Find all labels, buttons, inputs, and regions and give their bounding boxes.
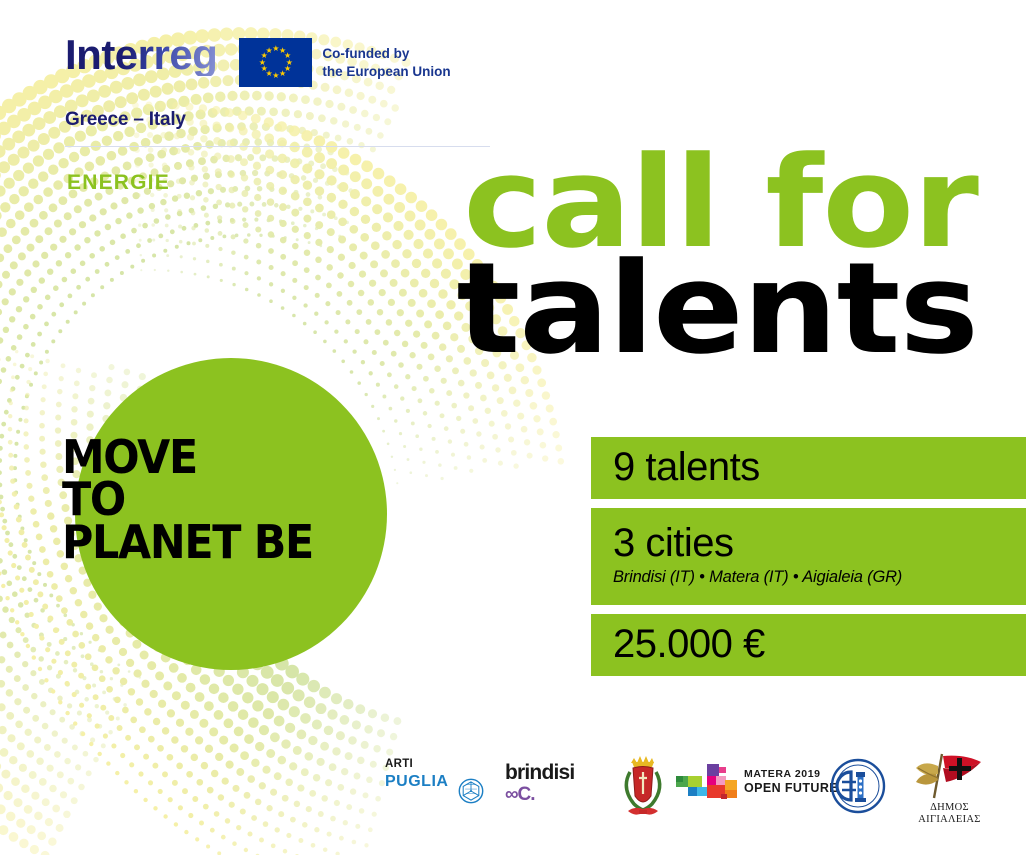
decorative-dot [190, 195, 195, 200]
decorative-dot [0, 202, 10, 212]
decorative-dot [114, 696, 121, 703]
decorative-dot [320, 742, 329, 751]
decorative-dot [11, 345, 17, 351]
decorative-dot [435, 310, 444, 319]
decorative-dot [30, 354, 34, 358]
decorative-dot [358, 290, 365, 297]
decorative-dot [120, 753, 125, 758]
decorative-dot [359, 808, 365, 814]
decorative-dot [115, 771, 119, 775]
decorative-dot [47, 512, 54, 519]
decorative-dot [393, 221, 403, 231]
decorative-dot [0, 507, 5, 512]
decorative-dot [56, 260, 62, 266]
decorative-dot [53, 285, 59, 291]
decorative-dot [321, 795, 328, 802]
decorative-dot [419, 289, 428, 298]
matera-text: MATERA 2019 OPEN FUTURE [744, 768, 838, 795]
decorative-dot [289, 173, 295, 179]
puglia-label: PUGLIA [385, 773, 448, 791]
decorative-dot [61, 607, 68, 614]
decorative-dot [191, 754, 198, 761]
decorative-dot [110, 278, 114, 282]
decorative-dot [2, 525, 7, 530]
decorative-dot [0, 122, 11, 136]
decorative-dot [0, 632, 7, 639]
matera-blocks-icon [676, 764, 740, 810]
decorative-dot [300, 713, 311, 724]
decorative-dot [482, 458, 487, 463]
decorative-dot [135, 163, 140, 168]
decorative-dot [59, 302, 64, 307]
decorative-dot [391, 351, 397, 357]
decorative-dot [225, 818, 230, 823]
decorative-dot [205, 745, 213, 753]
decorative-dot [390, 279, 398, 287]
decorative-dot [293, 689, 305, 701]
decorative-dot [269, 299, 273, 303]
decorative-dot [542, 391, 550, 399]
decorative-dot [85, 277, 90, 282]
decorative-dot [106, 377, 113, 384]
decorative-dot [485, 408, 491, 414]
decorative-dot [65, 711, 69, 715]
decorative-dot [153, 806, 157, 810]
decorative-dot [247, 831, 252, 836]
decorative-dot [91, 372, 97, 378]
decorative-dot [100, 705, 106, 711]
decorative-dot [338, 236, 346, 244]
decorative-dot [201, 205, 207, 211]
decorative-dot [155, 671, 164, 680]
info-cities-list: Brindisi (IT) • Matera (IT) • Aigialeia … [613, 565, 1026, 590]
decorative-dot [89, 641, 92, 644]
decorative-dot [71, 797, 78, 804]
decorative-dot [213, 137, 221, 145]
decorative-dot [152, 254, 156, 258]
decorative-dot [270, 732, 280, 742]
decorative-dot [56, 604, 60, 608]
decorative-dot [245, 288, 249, 292]
decorative-dot [138, 224, 141, 227]
decorative-dot [203, 197, 209, 203]
decorative-dot [179, 177, 186, 184]
decorative-dot [254, 194, 261, 201]
decorative-dot [79, 221, 86, 228]
decorative-dot [248, 717, 259, 728]
decorative-dot [165, 214, 171, 220]
decorative-dot [464, 442, 469, 447]
decorative-dot [0, 379, 2, 385]
decorative-dot [175, 245, 179, 249]
decorative-dot [308, 680, 320, 692]
decorative-dot [33, 117, 46, 130]
decorative-dot [157, 150, 166, 159]
decorative-dot [41, 474, 48, 481]
decorative-dot [236, 825, 241, 830]
decorative-dot [126, 212, 132, 218]
decorative-dot [19, 186, 29, 196]
decorative-dot [244, 848, 248, 852]
decorative-dot [215, 753, 223, 761]
decorative-dot [65, 252, 71, 258]
decorative-dot [381, 250, 390, 259]
decorative-dot [223, 675, 234, 686]
decorative-dot [44, 74, 58, 88]
decorative-dot [0, 227, 7, 237]
decorative-dot [391, 259, 400, 268]
decorative-dot [1, 367, 7, 373]
decorative-dot [443, 248, 454, 259]
project-tag-label: ENERGIE [67, 171, 170, 195]
decorative-dot [403, 445, 406, 448]
decorative-dot [377, 417, 380, 420]
decorative-dot [37, 591, 43, 597]
decorative-dot [497, 397, 504, 404]
decorative-dot [36, 757, 43, 764]
decorative-dot [315, 275, 321, 281]
decorative-dot [147, 238, 152, 243]
decorative-dot [116, 717, 120, 721]
decorative-dot [429, 388, 435, 394]
decorative-dot [177, 194, 182, 199]
decorative-dot [350, 788, 356, 794]
decorative-dot [492, 384, 499, 391]
decorative-dot [228, 701, 239, 712]
decorative-dot [542, 455, 548, 461]
decorative-dot [241, 190, 248, 197]
decorative-dot [39, 778, 47, 786]
decorative-dot [56, 595, 63, 602]
decorative-dot [394, 469, 396, 471]
decorative-dot [275, 827, 280, 832]
decorative-dot [20, 364, 25, 369]
decorative-dot [172, 691, 181, 700]
decorative-dot [394, 330, 401, 337]
decorative-dot [422, 461, 425, 464]
decorative-dot [178, 805, 183, 810]
decorative-dot [53, 180, 63, 190]
decorative-dot [41, 851, 50, 855]
decorative-dot [56, 402, 62, 408]
decorative-dot [254, 178, 262, 186]
decorative-dot [20, 527, 24, 531]
decorative-dot [124, 369, 131, 376]
decorative-dot [371, 241, 380, 250]
decorative-dot [161, 147, 167, 153]
decorative-dot [15, 721, 23, 729]
decorative-dot [209, 727, 218, 736]
decorative-dot [72, 744, 78, 750]
decorative-dot [162, 771, 168, 777]
decorative-dot [259, 838, 264, 843]
decorative-dot [266, 166, 275, 175]
decorative-dot [198, 238, 202, 242]
decorative-dot [513, 463, 518, 468]
decorative-dot [315, 186, 324, 195]
decorative-dot [74, 244, 80, 250]
decorative-dot [62, 277, 68, 283]
decorative-dot [29, 567, 35, 573]
decorative-dot [0, 161, 10, 173]
decorative-dot [226, 761, 234, 769]
decorative-dot [10, 608, 14, 612]
decorative-dot [304, 267, 310, 273]
decorative-dot [235, 154, 242, 161]
decorative-dot [117, 725, 123, 731]
decorative-dot [269, 282, 273, 286]
decorative-dot [325, 779, 332, 786]
decorative-dot [247, 775, 255, 783]
slogan-block: MOVE TO PLANET BE [62, 436, 313, 563]
decorative-dot [251, 759, 259, 767]
decorative-dot [61, 363, 66, 368]
decorative-dot [40, 461, 46, 467]
decorative-dot [15, 627, 21, 633]
decorative-dot [255, 210, 262, 217]
decorative-dot [90, 737, 95, 742]
decorative-dot [446, 355, 453, 362]
decorative-dot [361, 215, 370, 224]
decorative-dot [393, 717, 401, 725]
decorative-dot [254, 138, 262, 146]
decorative-dot [77, 711, 82, 716]
decorative-dot [369, 371, 373, 375]
decorative-dot [323, 847, 328, 852]
decorative-dot [47, 269, 53, 275]
decorative-dot [241, 174, 248, 181]
decorative-dot [16, 279, 23, 286]
decorative-dot [319, 245, 322, 248]
decorative-dot [290, 175, 299, 184]
decorative-dot [278, 699, 290, 711]
decorative-dot [7, 734, 15, 742]
decorative-dot [262, 202, 267, 207]
decorative-dot [148, 147, 154, 153]
decorative-dot [29, 383, 33, 387]
decorative-dot [111, 743, 116, 748]
decorative-dot [63, 637, 67, 641]
decorative-dot [34, 371, 38, 375]
decorative-dot [174, 822, 178, 826]
decorative-dot [37, 304, 43, 310]
decorative-dot [274, 716, 285, 727]
decorative-dot [39, 436, 45, 442]
decorative-dot [47, 618, 51, 622]
decorative-dot [15, 575, 20, 580]
decorative-dot [195, 837, 199, 841]
decorative-dot [434, 365, 440, 371]
decorative-dot [348, 281, 355, 288]
matera-line-2: OPEN FUTURE [744, 781, 838, 795]
decorative-dot [51, 689, 55, 693]
decorative-dot [38, 96, 52, 110]
decorative-dot [67, 703, 72, 708]
decorative-dot [546, 404, 554, 412]
decorative-dot [373, 168, 385, 180]
decorative-dot [337, 272, 344, 279]
hero-line-talents: talents [457, 256, 978, 362]
decorative-dot [231, 250, 236, 255]
decorative-dot [438, 463, 442, 467]
decorative-dot [513, 400, 520, 407]
decorative-dot [35, 235, 43, 243]
decorative-dot [396, 482, 398, 484]
decorative-dot [292, 314, 296, 318]
decorative-dot [255, 742, 264, 751]
decorative-dot [418, 398, 423, 403]
decorative-dot [28, 367, 32, 371]
decorative-dot [85, 653, 92, 660]
slogan-line-3: PLANET BE [62, 521, 313, 563]
decorative-dot [33, 80, 47, 94]
decorative-dot [139, 239, 142, 242]
decorative-dot [413, 330, 420, 337]
decorative-dot [113, 131, 123, 141]
decorative-dot [329, 198, 333, 202]
decorative-dot [48, 687, 54, 693]
decorative-dot [29, 771, 37, 779]
decorative-dot [285, 665, 299, 679]
decorative-dot [327, 246, 334, 253]
decorative-dot [89, 253, 95, 259]
decorative-dot [177, 211, 183, 217]
decorative-dot [34, 812, 42, 820]
decorative-dot [203, 804, 209, 810]
decorative-dot [151, 223, 155, 227]
decorative-dot [230, 218, 236, 224]
greek-chamber-seal-icon [828, 756, 888, 816]
decorative-dot [74, 381, 80, 387]
decorative-dot [327, 228, 335, 236]
decorative-dot [317, 758, 325, 766]
decorative-dot [63, 811, 70, 818]
decorative-dot [355, 704, 365, 714]
decorative-dot [379, 289, 386, 296]
decorative-dot [25, 353, 30, 358]
decorative-dot [201, 151, 208, 158]
decorative-dot [144, 708, 151, 715]
decorative-dot [371, 405, 374, 408]
decorative-dot [0, 748, 8, 757]
decorative-dot [425, 474, 428, 477]
decorative-dot [16, 819, 25, 828]
decorative-dot [480, 445, 485, 450]
decorative-dot [108, 715, 114, 721]
eu-star-icon: ★ [265, 47, 273, 55]
decorative-dot [120, 271, 124, 275]
decorative-dot [6, 356, 12, 362]
decorative-dot [325, 181, 330, 186]
decorative-dot [163, 249, 167, 253]
decorative-dot [153, 718, 160, 725]
decorative-dot [525, 389, 533, 397]
decorative-dot [274, 772, 282, 780]
decorative-dot [25, 394, 29, 398]
decorative-dot [104, 389, 111, 396]
decorative-dot [112, 667, 119, 674]
decorative-dot [49, 90, 63, 104]
decorative-dot [232, 267, 236, 271]
decorative-dot [37, 332, 42, 337]
decorative-dot [5, 531, 10, 536]
decorative-dot [30, 647, 36, 653]
decorative-dot [167, 709, 175, 717]
decorative-dot [0, 571, 2, 575]
matera-line-1: MATERA 2019 [744, 768, 838, 780]
decorative-dot [172, 780, 178, 786]
decorative-dot [60, 791, 67, 798]
decorative-dot [107, 151, 117, 161]
decorative-dot [80, 731, 85, 736]
decorative-dot [165, 224, 169, 228]
decorative-dot [64, 212, 72, 220]
decorative-dot [59, 236, 66, 243]
decorative-dot [313, 774, 320, 781]
decorative-dot [11, 375, 15, 379]
decorative-dot [48, 837, 56, 845]
decorative-dot [415, 220, 426, 231]
decorative-dot [195, 692, 205, 702]
decorative-dot [253, 162, 261, 170]
decorative-dot [72, 631, 79, 638]
decorative-dot [214, 710, 224, 720]
decorative-dot [42, 723, 49, 730]
decorative-dot [30, 845, 39, 854]
decorative-dot [274, 203, 279, 208]
decorative-dot [335, 852, 339, 855]
decorative-dot [12, 591, 18, 597]
decorative-dot [365, 393, 368, 396]
decorative-dot [410, 279, 419, 288]
decorative-dot [434, 238, 445, 249]
decorative-dot [9, 194, 19, 204]
decorative-dot [314, 169, 324, 179]
decorative-dot [15, 350, 18, 353]
decorative-dot [80, 261, 86, 267]
decorative-dot [131, 690, 134, 693]
decorative-dot [108, 364, 114, 370]
decorative-dot [435, 450, 439, 454]
decorative-dot [162, 727, 169, 734]
decorative-dot [6, 219, 16, 229]
decorative-dot [23, 296, 29, 302]
decorative-dot [211, 770, 218, 777]
decorative-dot [23, 637, 29, 643]
decorative-dot [186, 683, 196, 693]
decorative-dot [292, 278, 297, 283]
decorative-dot [426, 209, 438, 221]
decorative-dot [227, 155, 235, 163]
decorative-dot [0, 512, 4, 517]
decorative-dot [1, 584, 5, 588]
decorative-dot [324, 320, 328, 324]
decorative-dot [181, 745, 188, 752]
decorative-dot [350, 207, 359, 216]
header-divider [65, 146, 490, 147]
decorative-dot [318, 811, 324, 817]
decorative-dot [31, 792, 39, 800]
decorative-dot [43, 372, 48, 377]
decorative-dot [7, 581, 13, 587]
decorative-dot [9, 401, 13, 405]
decorative-dot [180, 255, 183, 258]
decorative-dot [72, 393, 78, 399]
programme-area-label: Greece – Italy [65, 109, 485, 131]
decorative-dot [85, 162, 95, 172]
decorative-dot [43, 111, 56, 124]
decorative-dot [23, 707, 30, 714]
